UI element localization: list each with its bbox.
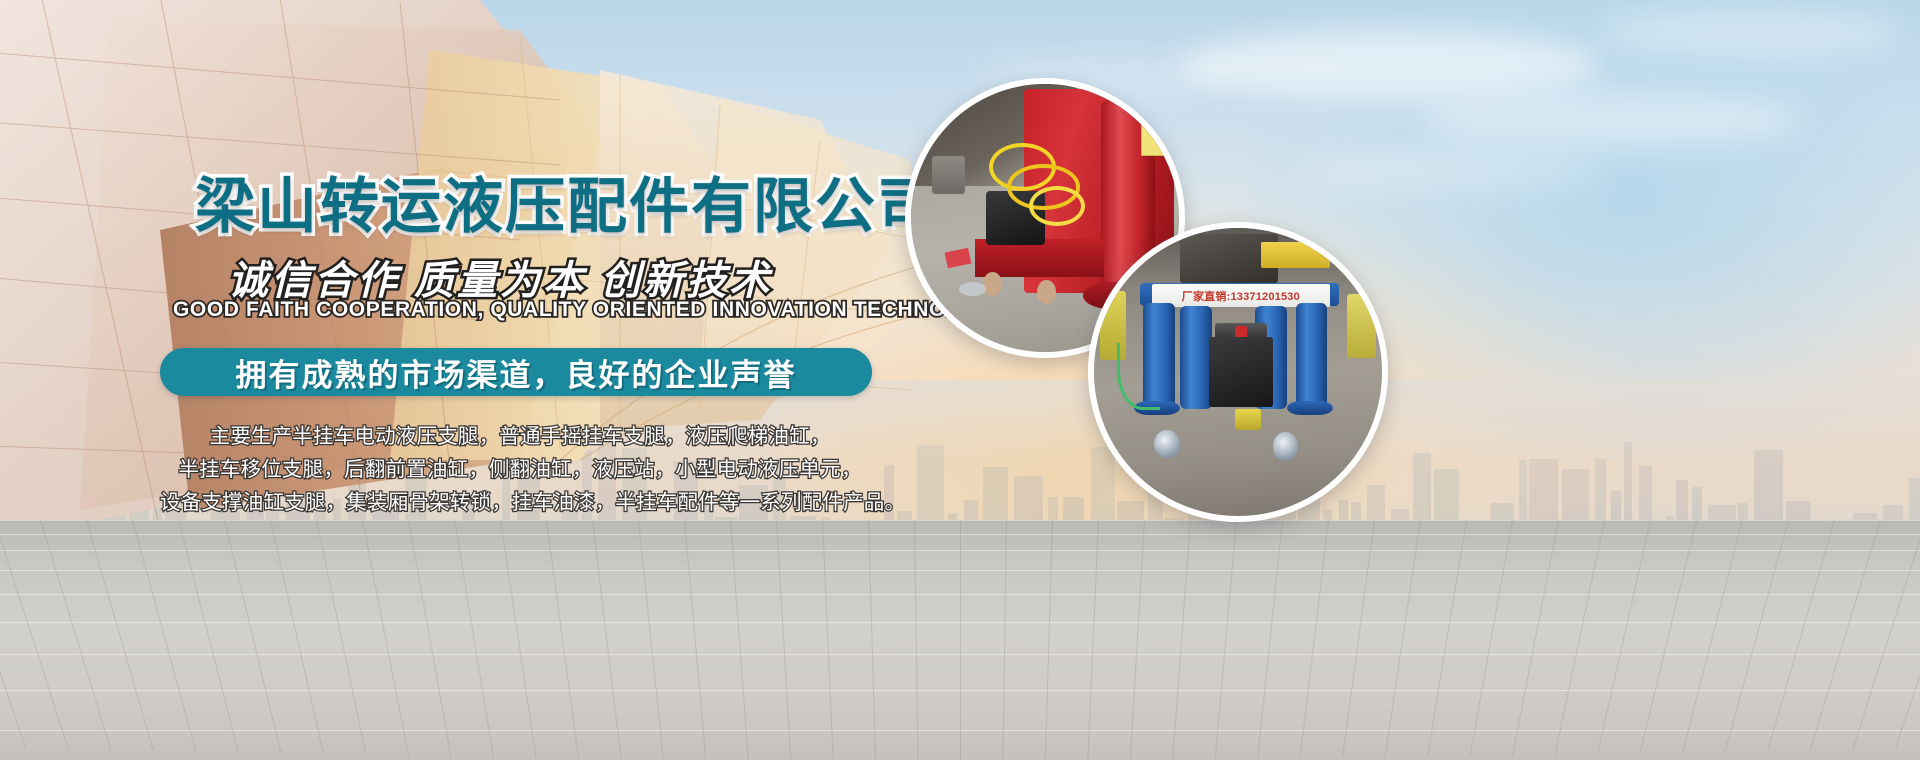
ground-debris [959,282,986,295]
page-title: 梁山转运液压配件有限公司 [195,158,939,245]
plaza-seam-vertical [1130,520,1145,760]
yellow-hose-3 [1029,186,1085,226]
caster-wheel-1 [983,272,1002,296]
yellow-tag [1235,409,1261,429]
plaza-seam-vertical [1215,520,1237,759]
foot-pad-right [1287,401,1333,415]
plaza-seam-vertical [1810,520,1881,750]
banner-copy: 梁山转运液压配件有限公司 诚信合作 质量为本 创新技术 GOOD FAITH C… [0,0,1040,620]
plaza-seam-vertical [1597,520,1651,754]
cloud-3 [1600,10,1900,56]
plaza-seam-vertical [1640,520,1697,753]
highlight-pill-text: 拥有成熟的市场渠道，良好的企业声誉 [236,350,797,395]
plaza-seam-vertical [1045,520,1053,760]
plaza-seam-vertical [1895,520,1920,747]
plaza-seam-vertical [1172,520,1191,759]
blue-hydraulic-legs-photo: 厂家直销:13371201530 [1088,222,1388,522]
plaza-seam-vertical [1725,520,1789,752]
plaza-seam-vertical [1427,520,1467,757]
factory-phone-text: 厂家直销:13371201530 [1182,288,1300,304]
plaza-seam-vertical [1512,520,1559,756]
oil-drum [932,156,964,194]
description-line-2: 半挂车移位支腿，后翻前置油缸，侧翻油缸，液压站，小型电动液压单元， [160,453,880,486]
blue-leg-2 [1180,306,1212,410]
highlight-pill: 拥有成熟的市场渠道，良好的企业声誉 [160,348,872,396]
plaza-seam-vertical [1385,520,1421,757]
cloud-4 [1300,150,1600,190]
description-paragraph: 主要生产半挂车电动液压支腿，普通手摇挂车支腿，液压爬梯油缸， 半挂车移位支腿，后… [160,420,880,519]
english-tagline: GOOD FAITH COOPERATION, QUALITY ORIENTED… [173,298,1008,322]
caster-wheel-2 [1037,280,1056,304]
description-line-1: 主要生产半挂车电动液压支腿，普通手摇挂车支腿，液压爬梯油缸， [160,420,880,453]
plaza-seam-vertical [1257,520,1283,759]
plaza-seam-vertical [1470,520,1513,756]
blue-leg-4 [1296,303,1328,407]
blue-photo-content: 厂家直销:13371201530 [1094,228,1382,516]
yellow-part-right [1347,294,1376,357]
black-control-box [1209,337,1272,406]
background-yellow-sign [1261,242,1330,268]
cloud-2 [1420,90,1800,148]
cloud-1 [1180,30,1600,100]
description-line-3: 设备支撑油缸支腿，集装厢骨架转锁，挂车油漆，半挂车配件等一系列配件产品。 [160,486,880,519]
plaza-seam-vertical [1852,520,1920,749]
hero-banner: 梁山转运液压配件有限公司 诚信合作 质量为本 创新技术 GOOD FAITH C… [0,0,1920,760]
plaza-seam-vertical [1555,520,1605,755]
plaza-seam-vertical [1087,520,1099,760]
warning-label [1141,111,1172,156]
plaza-seam-vertical [1342,520,1375,758]
plaza-seam-vertical [1300,520,1329,758]
